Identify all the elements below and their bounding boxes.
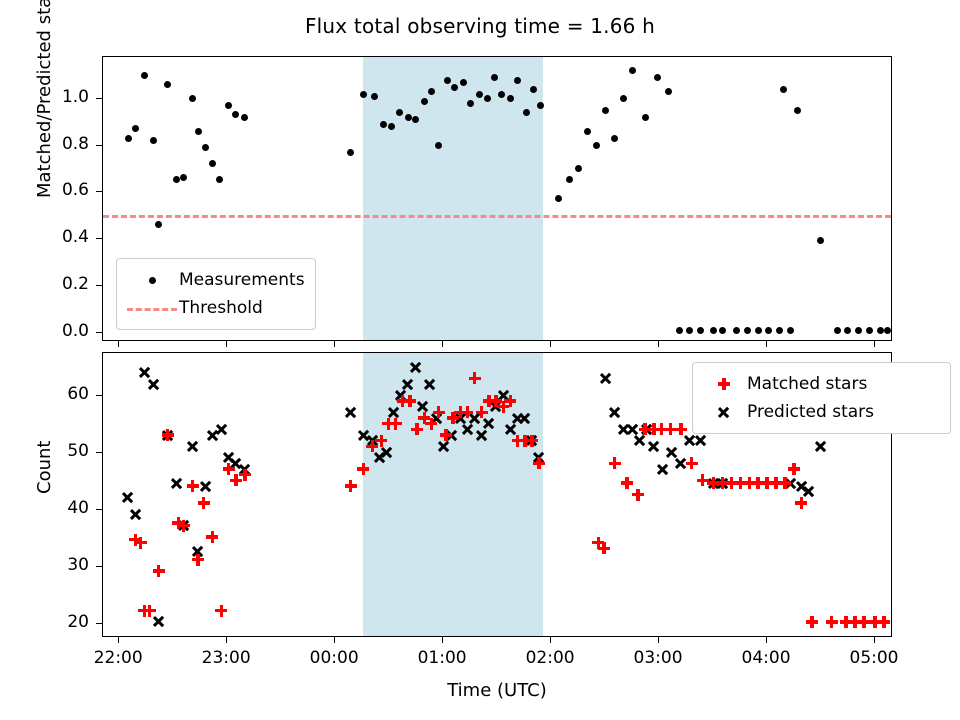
predicted-cross-icon: [701, 401, 747, 423]
matched-star-point: [867, 614, 882, 629]
measurement-point: [141, 72, 148, 79]
predicted-star-point: [128, 507, 143, 522]
matched-star-point: [137, 603, 152, 618]
measurement-point: [654, 74, 661, 81]
measurement-point: [216, 176, 223, 183]
top-panel-xtick: [766, 341, 767, 347]
measurement-point: [697, 327, 704, 334]
predicted-star-point: [598, 371, 613, 386]
measurement-point: [855, 327, 862, 334]
predicted-star-point: [185, 439, 200, 454]
matched-star-point: [142, 603, 157, 618]
measurement-point: [405, 114, 412, 121]
predicted-star-point: [801, 484, 816, 499]
bottom-panel-xtick: [550, 637, 551, 643]
predicted-star-point: [221, 450, 236, 465]
matched-star-point: [848, 614, 863, 629]
measurement-point: [241, 114, 248, 121]
matched-star-point: [151, 563, 166, 578]
predicted-star-point: [813, 439, 828, 454]
bottom-panel-ytick: [96, 566, 102, 567]
measurement-point: [719, 327, 726, 334]
measurement-point: [380, 121, 387, 128]
predicted-star-point: [656, 462, 671, 477]
top-panel-xtick: [118, 341, 119, 347]
predicted-star-point: [639, 422, 654, 437]
legend-item-measurements: Measurements: [125, 266, 305, 294]
matched-star-point: [647, 422, 662, 437]
legend-item-matched-stars: Matched stars: [701, 370, 940, 398]
predicted-star-point: [151, 614, 166, 629]
bottom-panel-xtick: [118, 637, 119, 643]
measurement-point: [125, 135, 132, 142]
matched-star-point: [171, 515, 186, 530]
top-panel-xtick: [658, 341, 659, 347]
matched-star-point: [760, 476, 775, 491]
matched-star-point: [591, 535, 606, 550]
threshold-dash-icon: [125, 297, 179, 319]
matched-star-point: [706, 476, 721, 491]
predicted-star-point: [191, 544, 206, 559]
measurement-point: [173, 176, 180, 183]
measurement-point: [686, 327, 693, 334]
predicted-star-point: [706, 476, 721, 491]
measurement-point: [421, 98, 428, 105]
matched-star-point: [133, 535, 148, 550]
x-tick-label: 02:00: [526, 648, 575, 668]
predicted-star-point: [343, 405, 358, 420]
predicted-star-point: [205, 428, 220, 443]
measurement-point: [780, 86, 787, 93]
predicted-star-point: [647, 439, 662, 454]
measurement-point: [360, 91, 367, 98]
measurement-point: [676, 327, 683, 334]
matched-star-point: [684, 456, 699, 471]
top-panel-xtick: [226, 341, 227, 347]
measurement-point: [602, 107, 609, 114]
matched-star-point: [839, 614, 854, 629]
x-tick-label: 00:00: [310, 648, 359, 668]
measurement-point: [555, 195, 562, 202]
measurement-point: [744, 327, 751, 334]
measurement-point: [150, 137, 157, 144]
bottom-panel-xtick: [226, 637, 227, 643]
matched-star-point: [724, 476, 739, 491]
matched-star-point: [654, 422, 669, 437]
figure-canvas: Flux total observing time = 1.66 h Match…: [0, 0, 960, 720]
x-axis-label: Time (UTC): [102, 680, 892, 701]
measurement-point: [347, 149, 354, 156]
matched-star-point: [196, 495, 211, 510]
bottom-panel-xtick: [766, 637, 767, 643]
bottom-panel-legend: Matched stars Predicted stars: [692, 362, 951, 434]
predicted-star-point: [673, 456, 688, 471]
measurement-point: [834, 327, 841, 334]
matched-star-point: [805, 614, 820, 629]
matched-star-point: [857, 614, 872, 629]
top-panel-xtick: [874, 341, 875, 347]
measurement-point: [444, 77, 451, 84]
measurement-point: [584, 128, 591, 135]
measurement-point: [209, 160, 216, 167]
measurement-point: [575, 165, 582, 172]
matched-star-point: [742, 476, 757, 491]
measurement-point: [665, 88, 672, 95]
predicted-star-point: [198, 479, 213, 494]
measurement-point: [733, 327, 740, 334]
measurement-point: [593, 142, 600, 149]
bottom-panel-ytick-label: 40: [0, 498, 89, 518]
top-panel-ytick-label: 0.8: [0, 134, 89, 154]
top-panel-ytick-label: 0.6: [0, 180, 89, 200]
matched-star-point: [778, 476, 793, 491]
top-panel-ytick: [96, 238, 102, 239]
top-panel-ytick: [96, 98, 102, 99]
measurement-point: [817, 237, 824, 244]
bottom-panel-ytick-label: 20: [0, 612, 89, 632]
matched-star-point: [751, 476, 766, 491]
measurement-point: [155, 221, 162, 228]
measurement-point: [189, 95, 196, 102]
x-tick-label: 04:00: [742, 648, 791, 668]
bottom-panel-ytick-label: 30: [0, 555, 89, 575]
matched-star-point: [191, 552, 206, 567]
matched-star-point: [733, 476, 748, 491]
matched-star-point: [638, 422, 653, 437]
matched-star-point: [221, 462, 236, 477]
matched-star-point: [343, 479, 358, 494]
matched-star-point: [787, 462, 802, 477]
measurement-point: [225, 102, 232, 109]
predicted-star-point: [625, 422, 640, 437]
top-panel-ytick: [96, 191, 102, 192]
x-tick-label: 03:00: [634, 648, 683, 668]
bottom-panel-xtick: [874, 637, 875, 643]
measurement-point: [566, 176, 573, 183]
measurement-point: [202, 144, 209, 151]
measurement-point: [776, 327, 783, 334]
predicted-star-point: [616, 422, 631, 437]
legend-item-threshold: Threshold: [125, 294, 305, 322]
matched-star-point: [607, 456, 622, 471]
matched-star-point: [237, 467, 252, 482]
bottom-panel-xtick: [658, 637, 659, 643]
predicted-star-point: [632, 433, 647, 448]
measurement-point: [484, 95, 491, 102]
matched-star-point: [620, 476, 635, 491]
measurement-point: [844, 327, 851, 334]
predicted-star-point: [665, 445, 680, 460]
x-tick-label: 01:00: [418, 648, 467, 668]
matched-star-point: [596, 541, 611, 556]
top-panel-ytick: [96, 332, 102, 333]
predicted-star-point: [169, 476, 184, 491]
top-panel-legend: Measurements Threshold: [116, 258, 316, 330]
predicted-star-point: [715, 476, 730, 491]
measurement-point: [629, 67, 636, 74]
predicted-star-point: [137, 365, 152, 380]
measurement-point: [765, 327, 772, 334]
matched-star-point: [715, 476, 730, 491]
measurement-point: [877, 327, 884, 334]
predicted-star-point: [160, 428, 175, 443]
measurement-point: [232, 111, 239, 118]
top-panel-xtick: [550, 341, 551, 347]
bottom-panel-ytick-label: 50: [0, 441, 89, 461]
shaded-time-span: [363, 57, 542, 340]
predicted-star-point: [176, 518, 191, 533]
matched-star-point: [228, 473, 243, 488]
predicted-star-point: [693, 433, 708, 448]
bottom-panel-ytick: [96, 509, 102, 510]
matched-star-point: [769, 476, 784, 491]
predicted-star-point: [121, 490, 136, 505]
measurement-point: [794, 107, 801, 114]
measurement-point: [866, 327, 873, 334]
measurement-point: [451, 84, 458, 91]
measurement-point: [195, 128, 202, 135]
top-panel-ytick-label: 1.0: [0, 87, 89, 107]
measurement-point: [435, 142, 442, 149]
legend-label-matched-stars: Matched stars: [747, 376, 867, 393]
top-panel-xtick: [442, 341, 443, 347]
measurement-point: [620, 95, 627, 102]
x-tick-label: 22:00: [94, 648, 143, 668]
measurement-point: [132, 125, 139, 132]
legend-item-predicted-stars: Predicted stars: [701, 398, 940, 426]
measurement-point: [884, 327, 891, 334]
bottom-panel-xtick: [442, 637, 443, 643]
shaded-time-span: [363, 353, 542, 636]
figure-title: Flux total observing time = 1.66 h: [0, 14, 960, 38]
measurement-point: [371, 93, 378, 100]
measurements-dot-icon: [125, 269, 179, 291]
measurement-point: [396, 109, 403, 116]
measurement-point: [164, 81, 171, 88]
predicted-star-point: [607, 405, 622, 420]
x-tick-label: 23:00: [202, 648, 251, 668]
measurement-point: [498, 91, 505, 98]
measurement-point: [710, 327, 717, 334]
matched-star-point: [663, 422, 678, 437]
measurement-point: [412, 116, 419, 123]
matched-star-point: [673, 422, 688, 437]
matched-star-point: [824, 614, 839, 629]
matched-star-point: [794, 495, 809, 510]
predicted-star-point: [146, 377, 161, 392]
measurement-point: [611, 135, 618, 142]
predicted-star-point: [237, 462, 252, 477]
matched-star-point: [876, 614, 891, 629]
predicted-star-point: [682, 433, 697, 448]
measurement-point: [787, 327, 794, 334]
measurement-point: [180, 174, 187, 181]
matched-star-point: [176, 518, 191, 533]
bottom-panel-ytick: [96, 452, 102, 453]
top-panel-xtick: [334, 341, 335, 347]
legend-label-predicted-stars: Predicted stars: [747, 404, 874, 421]
predicted-star-point: [214, 422, 229, 437]
matched-star-point: [185, 479, 200, 494]
top-panel-ytick-label: 0.2: [0, 274, 89, 294]
bottom-panel-ytick-label: 60: [0, 384, 89, 404]
measurement-point: [755, 327, 762, 334]
bottom-panel-ytick: [96, 395, 102, 396]
predicted-star-point: [794, 479, 809, 494]
legend-label-measurements: Measurements: [179, 272, 305, 289]
top-panel-ytick-label: 0.0: [0, 321, 89, 341]
predicted-star-point: [783, 476, 798, 491]
matched-star-point: [630, 487, 645, 502]
bottom-panel-xtick: [334, 637, 335, 643]
top-panel-ytick-label: 0.4: [0, 227, 89, 247]
matched-star-point: [205, 529, 220, 544]
measurement-point: [642, 114, 649, 121]
threshold-line: [103, 215, 891, 218]
bottom-panel-ytick: [96, 623, 102, 624]
predicted-star-point: [228, 456, 243, 471]
matched-star-point: [214, 603, 229, 618]
measurement-point: [514, 77, 521, 84]
legend-label-threshold: Threshold: [179, 300, 263, 317]
matched-star-point: [695, 473, 710, 488]
matched-star-point: [128, 532, 143, 547]
matched-plus-icon: [701, 373, 747, 395]
measurement-point: [537, 102, 544, 109]
matched-star-point: [160, 428, 175, 443]
x-tick-label: 05:00: [850, 648, 899, 668]
top-panel-ytick: [96, 145, 102, 146]
top-panel-ytick: [96, 285, 102, 286]
